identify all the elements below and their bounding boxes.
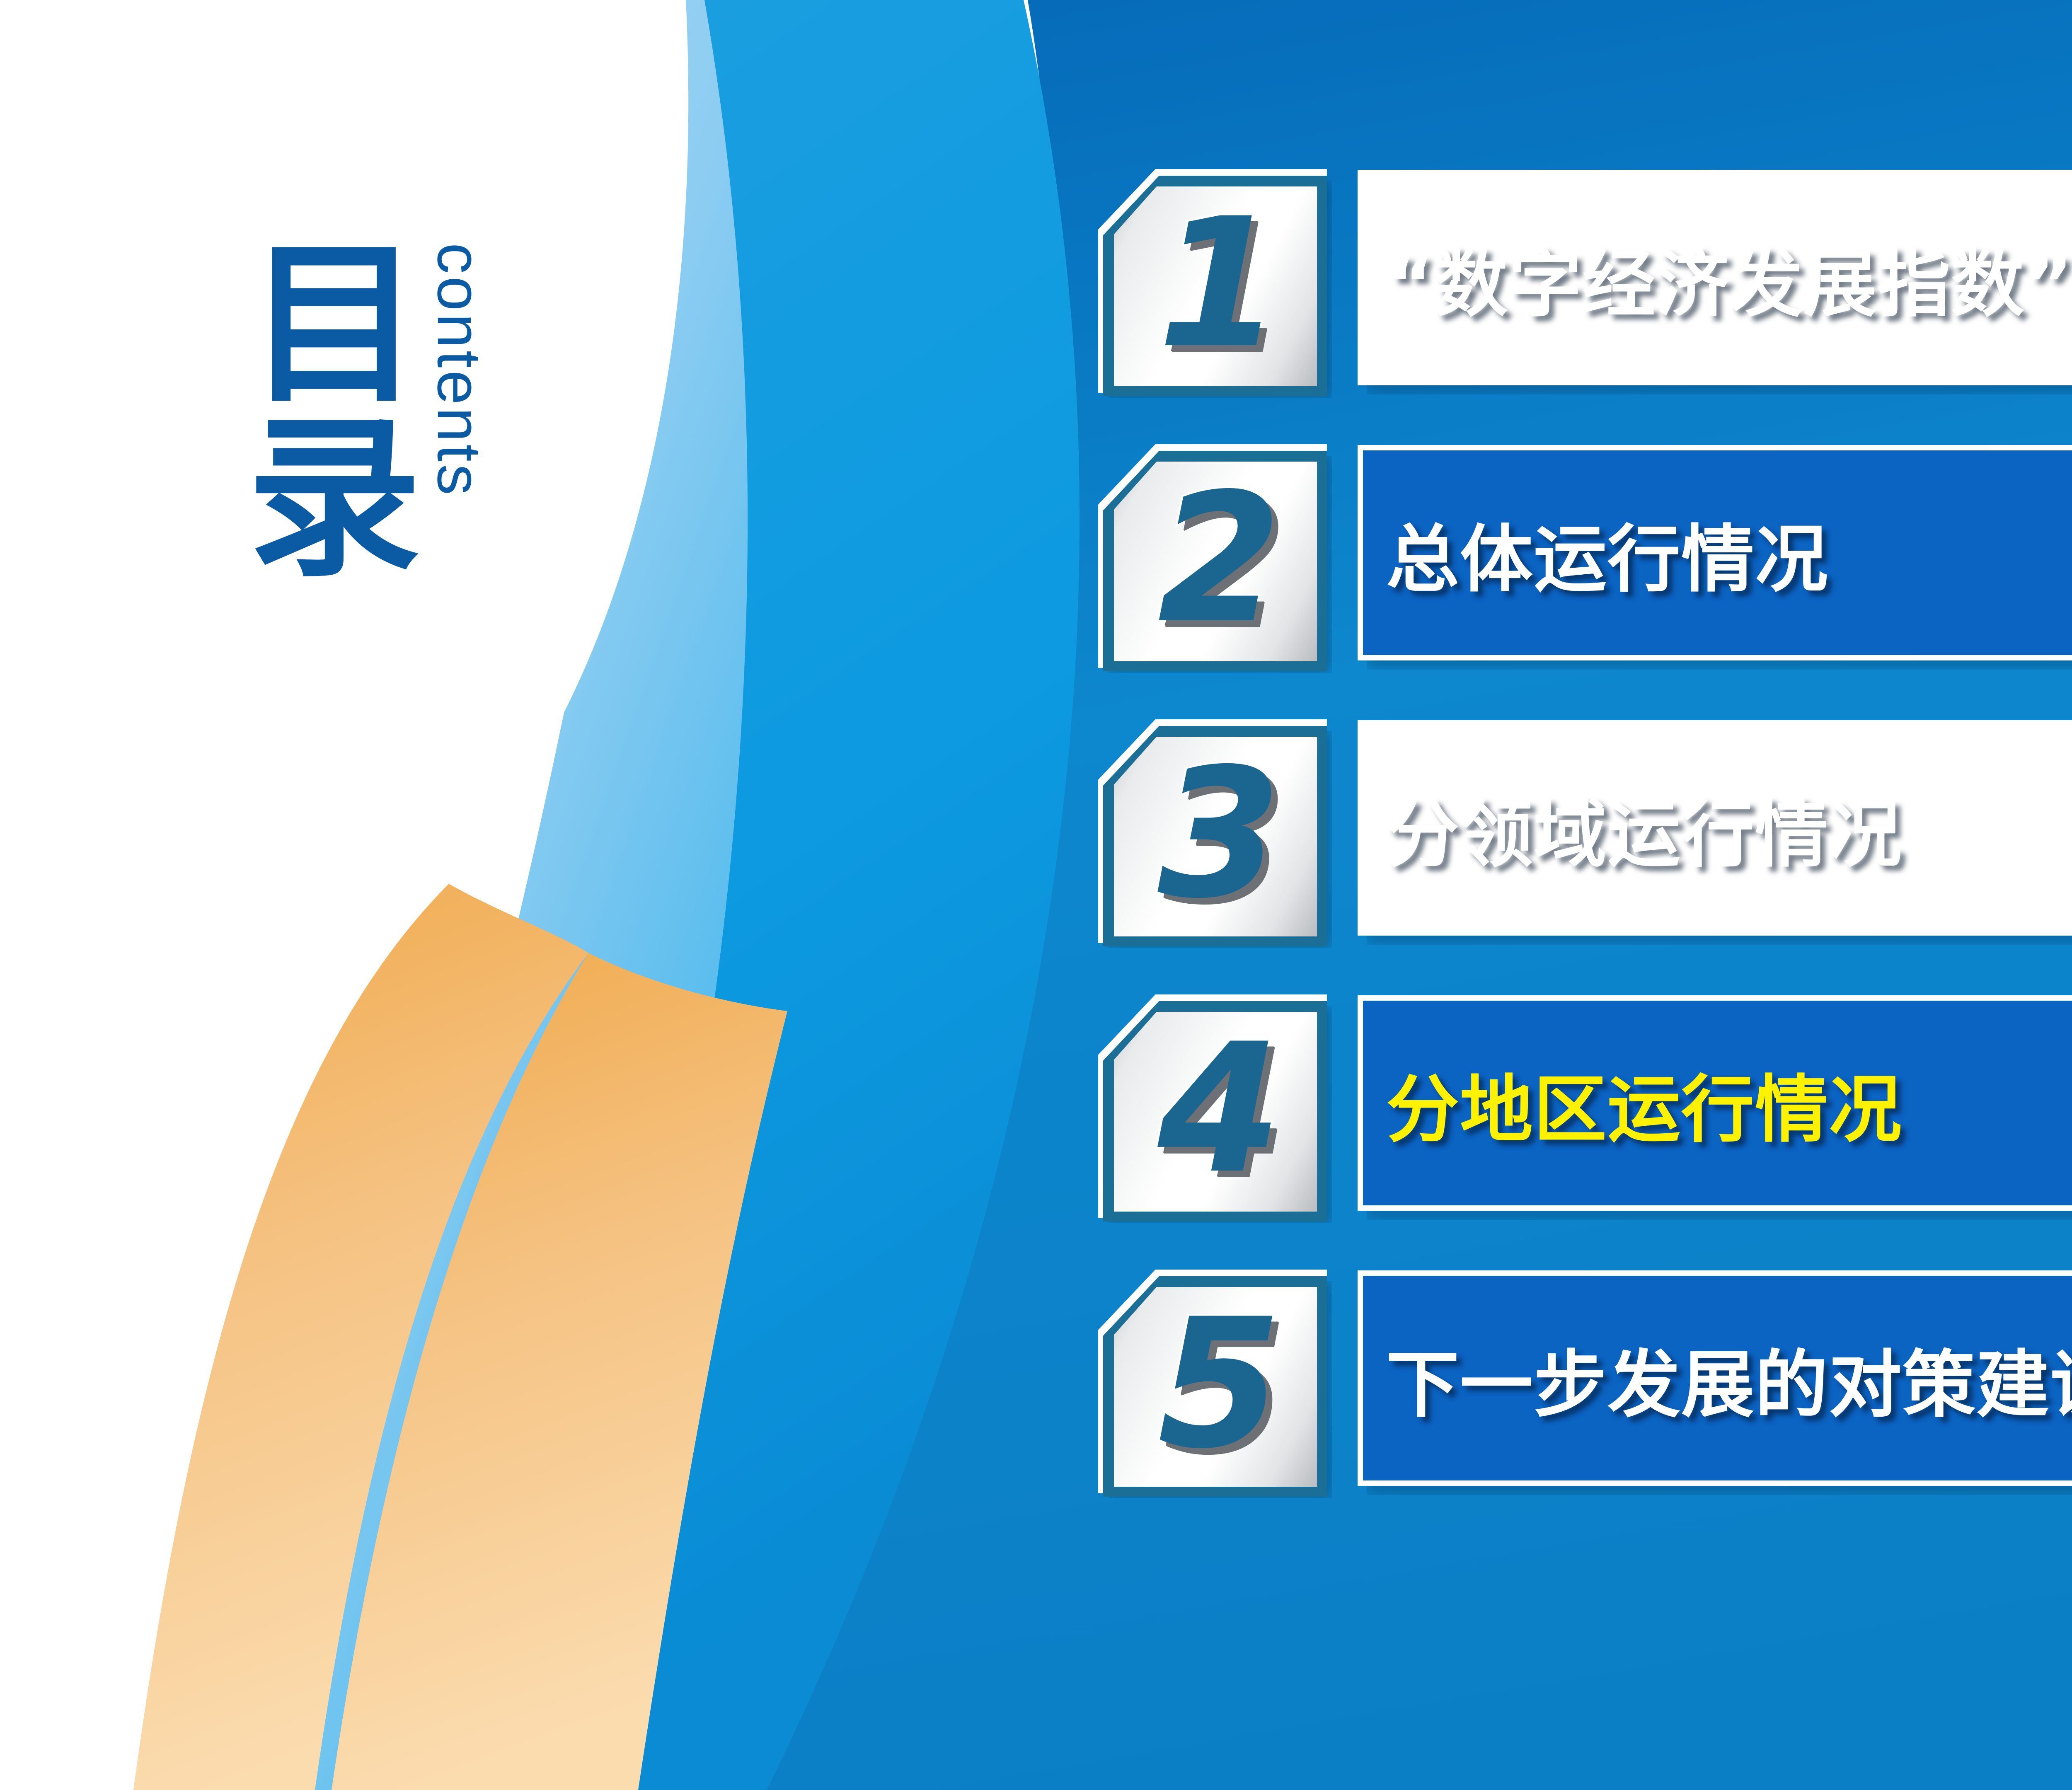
toc-item-label: 总体运行情况 (1386, 500, 1829, 606)
toc-item-label: 下一步发展的对策建议 (1386, 1326, 2072, 1431)
badge-number-label: 1 (1157, 195, 1281, 373)
badge-face: 1 (1114, 186, 1317, 386)
number-badge-2: 2 (1094, 443, 1339, 675)
toc-item-1[interactable]: 1 “数字经济发展指数”指标体系介绍 (1094, 167, 2072, 399)
toc-label-panel-3[interactable]: 分领域运行情况 (1358, 720, 2072, 936)
toc-label-panel-2[interactable]: 总体运行情况 (1358, 445, 2072, 660)
number-badge-1: 1 (1094, 167, 1339, 399)
page-title-cn: 目录 (232, 232, 404, 580)
panel-surface: “数字经济发展指数”指标体系介绍 (1363, 175, 2072, 380)
number-badge-3: 3 (1094, 718, 1339, 950)
badge-face: 5 (1114, 1287, 1317, 1487)
toc-item-4[interactable]: 4 分地区运行情况 (1094, 993, 2072, 1225)
badge-face: 4 (1114, 1012, 1317, 1212)
badge-face: 3 (1114, 737, 1317, 936)
toc-item-3[interactable]: 3 分领域运行情况 (1094, 718, 2072, 950)
panel-surface: 分地区运行情况 (1363, 1001, 2072, 1205)
panel-surface: 分领域运行情况 (1363, 726, 2072, 930)
toc-label-panel-5[interactable]: 下一步发展的对策建议 (1358, 1270, 2072, 1486)
toc-item-2[interactable]: 2 总体运行情况 (1094, 443, 2072, 675)
toc-item-label-active: 分地区运行情况 (1386, 1050, 1903, 1156)
toc-label-panel-1[interactable]: “数字经济发展指数”指标体系介绍 (1358, 170, 2072, 385)
number-badge-5: 5 (1094, 1268, 1339, 1500)
panel-surface: 总体运行情况 (1363, 450, 2072, 655)
toc-label-panel-4[interactable]: 分地区运行情况 (1358, 995, 2072, 1211)
badge-face: 2 (1114, 462, 1317, 661)
presentation-slide: 目录 contents 1 “数字经济发展指数”指标体系介绍 (0, 0, 2072, 1790)
toc-item-label: “数字经济发展指数”指标体系介绍 (1386, 225, 2072, 331)
page-title-en: contents (424, 243, 495, 498)
number-badge-4: 4 (1094, 993, 1339, 1225)
badge-number-label: 3 (1157, 745, 1281, 923)
badge-number-label: 4 (1157, 1020, 1281, 1198)
toc-item-5[interactable]: 5 下一步发展的对策建议 (1094, 1268, 2072, 1500)
toc-title-block: 目录 contents (232, 232, 667, 729)
toc-list: 1 “数字经济发展指数”指标体系介绍 2 (1094, 167, 2072, 1500)
badge-number-label: 5 (1157, 1295, 1281, 1473)
badge-number-label: 2 (1157, 470, 1281, 648)
panel-surface: 下一步发展的对策建议 (1363, 1276, 2072, 1480)
toc-item-label: 分领域运行情况 (1386, 775, 1903, 881)
